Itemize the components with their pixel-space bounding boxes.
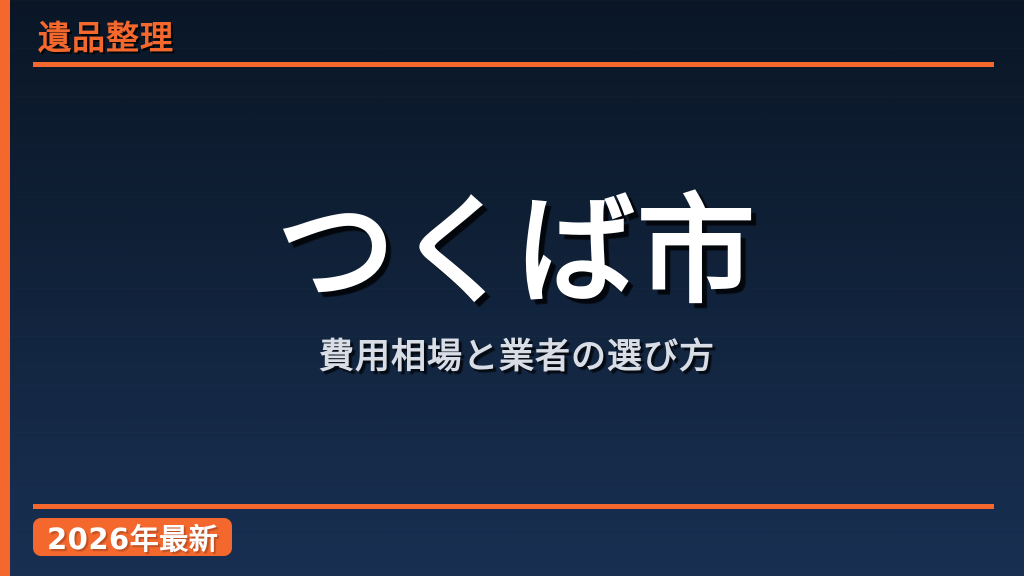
title-slide: 遺品整理 つくば市 費用相場と業者の選び方 2026年最新 xyxy=(0,0,1024,576)
center-content: つくば市 費用相場と業者の選び方 xyxy=(10,0,1024,576)
year-badge: 2026年最新 xyxy=(33,518,232,556)
page-subtitle: 費用相場と業者の選び方 xyxy=(319,336,715,378)
left-accent-bar xyxy=(0,0,10,576)
page-title: つくば市 xyxy=(277,192,757,310)
bottom-divider-rule xyxy=(33,504,994,509)
